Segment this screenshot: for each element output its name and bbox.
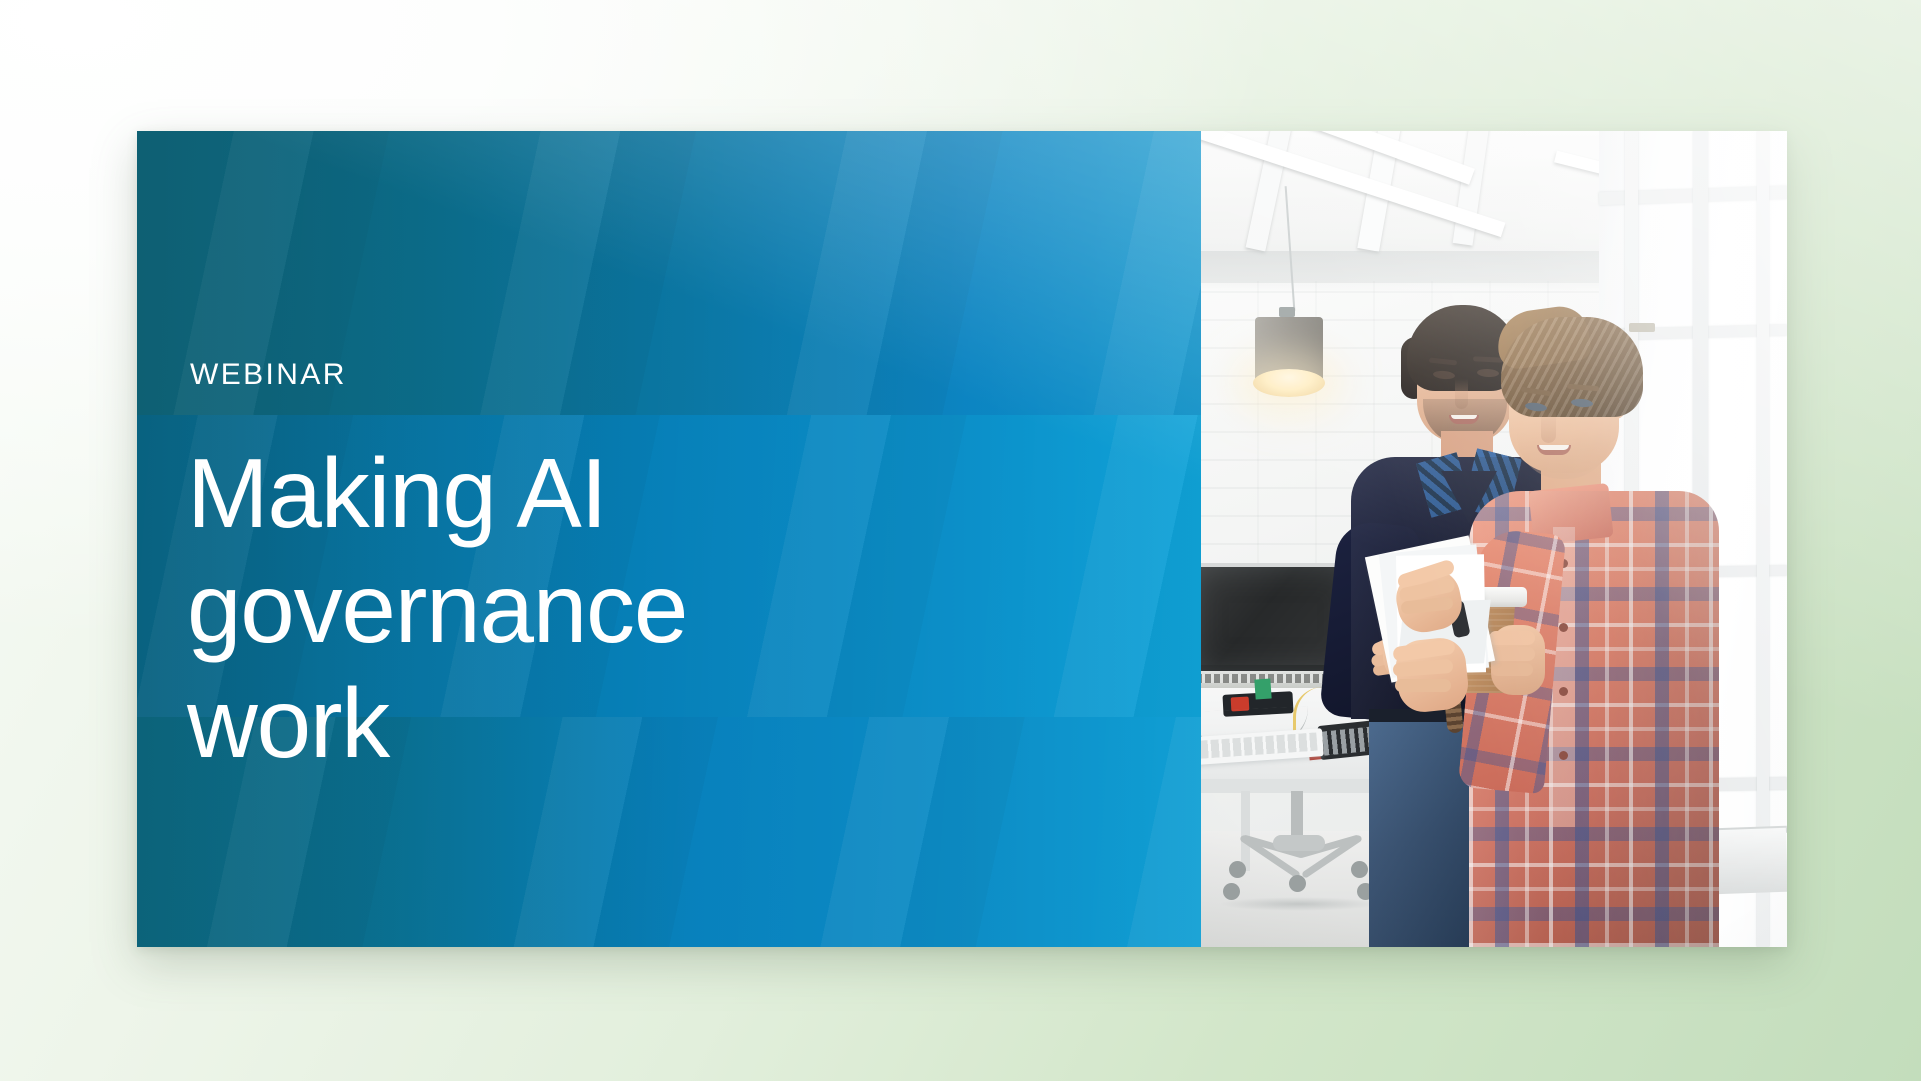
window-mullion [1757,131,1769,947]
desk-leg [1241,791,1250,871]
laptop-screen-glare [1201,567,1345,665]
person-left-finger [1489,647,1535,661]
panel-text-block: WEBINAR Making AI governance work [137,131,1201,947]
headline-line-1: Making AI [187,436,1167,551]
chair-shadow [1219,897,1379,911]
window-latch [1629,323,1655,332]
person-right-teeth [1539,445,1569,450]
person-left-finger [1489,631,1535,645]
chair-caster [1229,861,1246,878]
person-right-finger [1395,679,1451,692]
lamp-glow [1253,369,1325,397]
chair-caster [1351,861,1368,878]
card-text-panel: WEBINAR Making AI governance work [137,131,1201,947]
person-left-finger [1491,663,1533,676]
headline-line-2: governance [187,551,1167,666]
content-type-label: WEBINAR [190,360,347,390]
page-backdrop: WEBINAR Making AI governance work [0,0,1921,1081]
chair-hub [1273,835,1325,851]
desk-accessory [1254,678,1271,699]
webinar-promo-card[interactable]: WEBINAR Making AI governance work [137,131,1787,947]
office-photo [1201,131,1787,947]
person-right-nose [1541,409,1556,443]
page-title: Making AI governance work [187,436,1167,781]
headline-line-3: work [187,666,1167,781]
lamp-cap [1279,307,1295,317]
chair-caster [1289,875,1306,892]
person-left-teeth [1451,415,1477,419]
chair-caster [1223,883,1240,900]
